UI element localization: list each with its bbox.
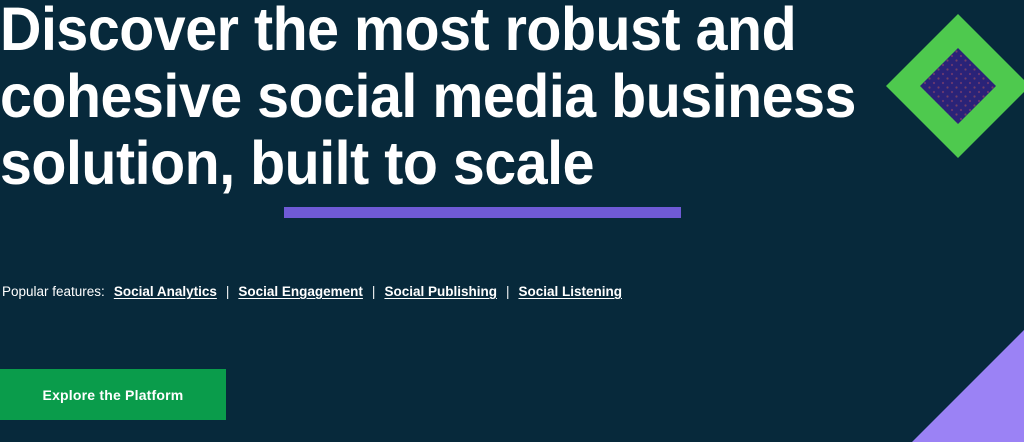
headline-underline-accent (284, 207, 681, 218)
feature-link-social-publishing[interactable]: Social Publishing (384, 283, 497, 301)
feature-link-social-listening[interactable]: Social Listening (518, 283, 622, 301)
page-title: Discover the most robust and cohesive so… (0, 0, 949, 197)
feature-separator: | (226, 283, 230, 301)
corner-triangle-shape (912, 330, 1024, 442)
feature-separator: | (506, 283, 510, 301)
feature-link-social-analytics[interactable]: Social Analytics (114, 283, 217, 301)
popular-features-label: Popular features: (2, 283, 105, 301)
explore-the-platform-button[interactable]: Explore the Platform (0, 369, 226, 420)
feature-link-social-engagement[interactable]: Social Engagement (238, 283, 363, 301)
popular-features-row: Popular features: Social Analytics | Soc… (2, 283, 622, 301)
feature-separator: | (372, 283, 376, 301)
hero-banner: Discover the most robust and cohesive so… (0, 0, 1024, 442)
